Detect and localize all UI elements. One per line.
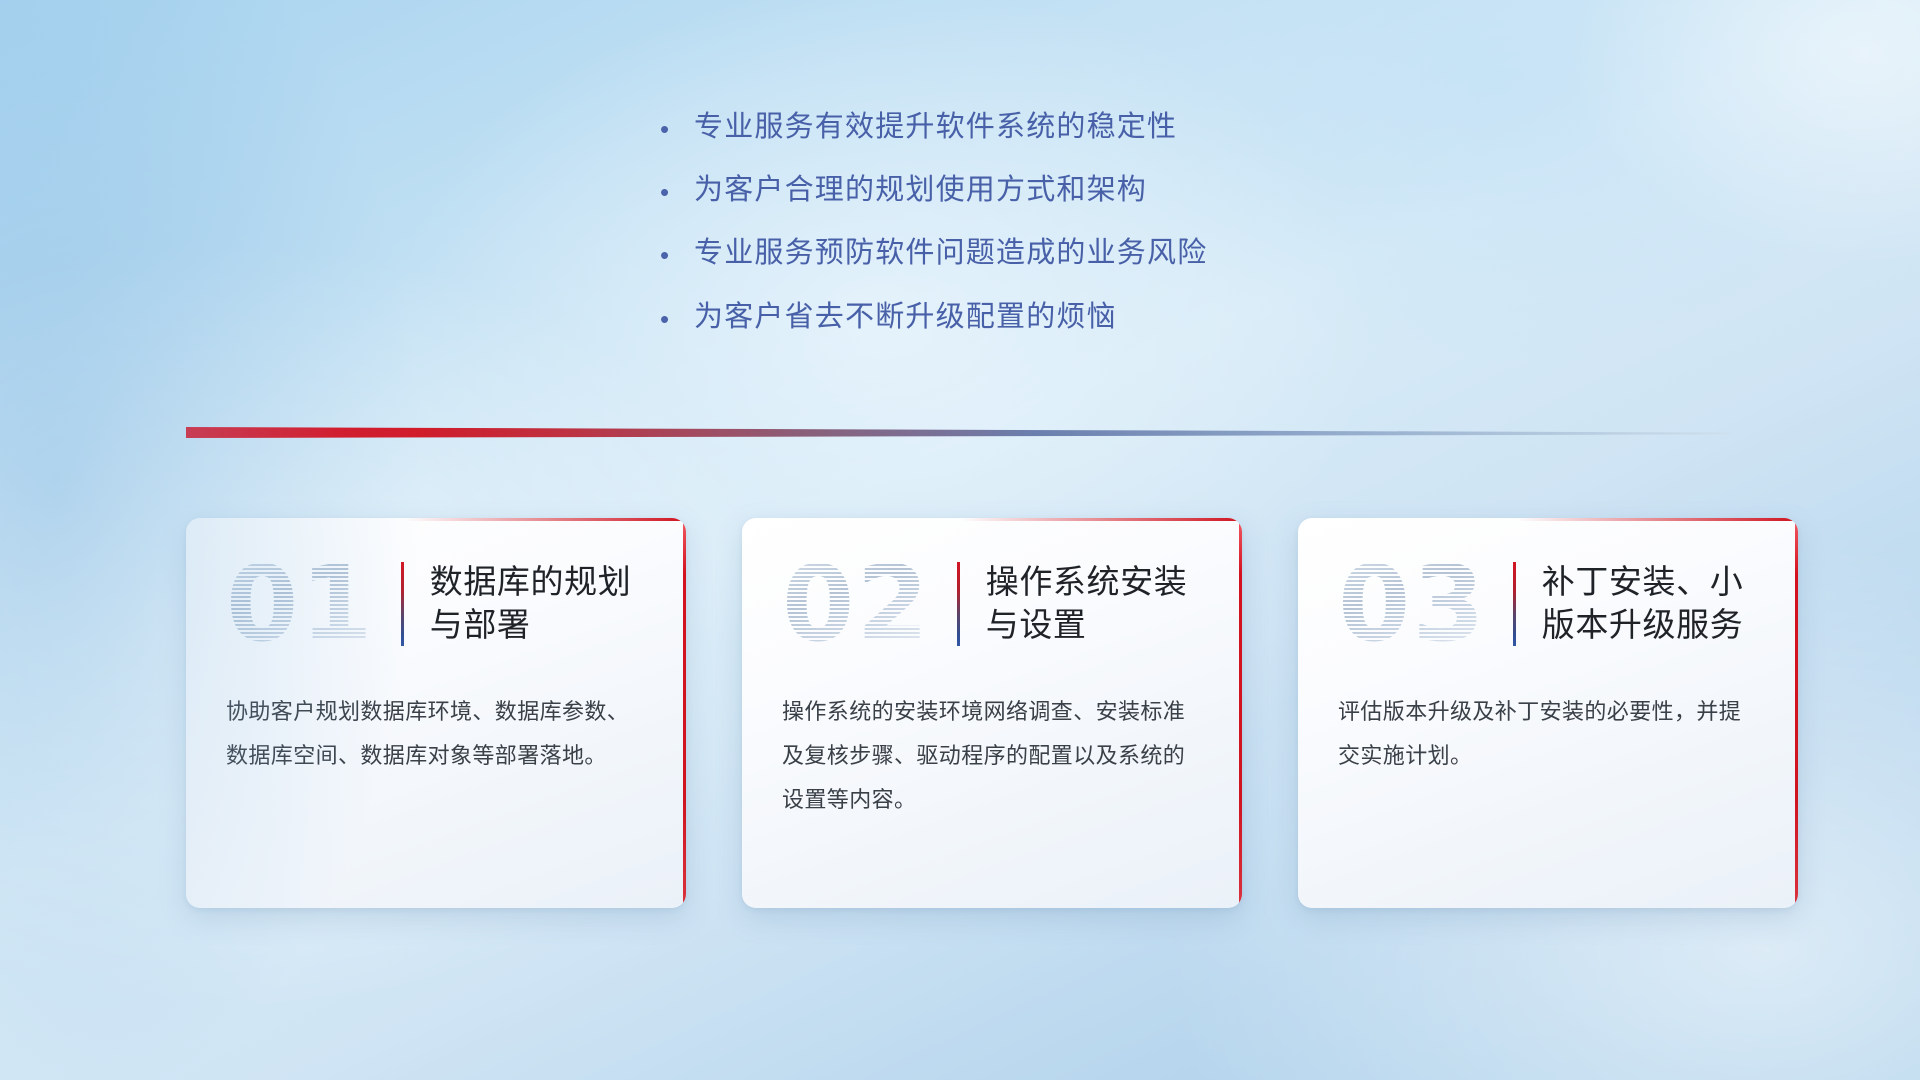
card-title: 补丁安装、小版本升级服务: [1542, 561, 1768, 647]
card-title: 数据库的规划与部署: [430, 561, 656, 647]
card-description: 评估版本升级及补丁安装的必要性，并提交实施计划。: [1298, 690, 1798, 778]
card-header: 02 操作系统安装与设置: [742, 518, 1242, 690]
card-divider-rule: [957, 562, 960, 646]
service-card-list: 01 数据库的规划与部署 协助客户规划数据库环境、数据库参数、数据库空间、数据库…: [186, 518, 1798, 908]
card-title: 操作系统安装与设置: [986, 561, 1212, 647]
card-divider-rule: [401, 562, 404, 646]
bullet-text: 专业服务预防软件问题造成的业务风险: [694, 236, 1207, 270]
card-number: 01: [226, 552, 375, 656]
card-divider-rule: [1513, 562, 1516, 646]
bullet-marker-icon: •: [660, 173, 694, 205]
card-number: 03: [1338, 552, 1487, 656]
card-header: 01 数据库的规划与部署: [186, 518, 686, 690]
service-card[interactable]: 03 补丁安装、小版本升级服务 评估版本升级及补丁安装的必要性，并提交实施计划。: [1298, 518, 1798, 908]
card-header: 03 补丁安装、小版本升级服务: [1298, 518, 1798, 690]
card-description: 操作系统的安装环境网络调查、安装标准及复核步骤、驱动程序的配置以及系统的设置等内…: [742, 690, 1242, 822]
section-divider: [186, 423, 1731, 445]
divider-shape-icon: [186, 423, 1731, 445]
bullet-text: 专业服务有效提升软件系统的稳定性: [694, 110, 1177, 144]
slide-canvas: • 专业服务有效提升软件系统的稳定性 • 为客户合理的规划使用方式和架构 • 专…: [0, 0, 1920, 1080]
list-item: • 为客户合理的规划使用方式和架构: [660, 173, 1440, 207]
list-item: • 专业服务有效提升软件系统的稳定性: [660, 110, 1440, 144]
list-item: • 专业服务预防软件问题造成的业务风险: [660, 236, 1440, 270]
bullet-marker-icon: •: [660, 110, 694, 142]
bullet-text: 为客户合理的规划使用方式和架构: [694, 173, 1147, 207]
service-card[interactable]: 01 数据库的规划与部署 协助客户规划数据库环境、数据库参数、数据库空间、数据库…: [186, 518, 686, 908]
benefits-bullet-list: • 专业服务有效提升软件系统的稳定性 • 为客户合理的规划使用方式和架构 • 专…: [660, 110, 1440, 363]
service-card[interactable]: 02 操作系统安装与设置 操作系统的安装环境网络调查、安装标准及复核步骤、驱动程…: [742, 518, 1242, 908]
bullet-marker-icon: •: [660, 300, 694, 332]
card-number: 02: [782, 552, 931, 656]
bullet-text: 为客户省去不断升级配置的烦恼: [694, 300, 1117, 334]
list-item: • 为客户省去不断升级配置的烦恼: [660, 300, 1440, 334]
card-description: 协助客户规划数据库环境、数据库参数、数据库空间、数据库对象等部署落地。: [186, 690, 686, 778]
bullet-marker-icon: •: [660, 236, 694, 268]
